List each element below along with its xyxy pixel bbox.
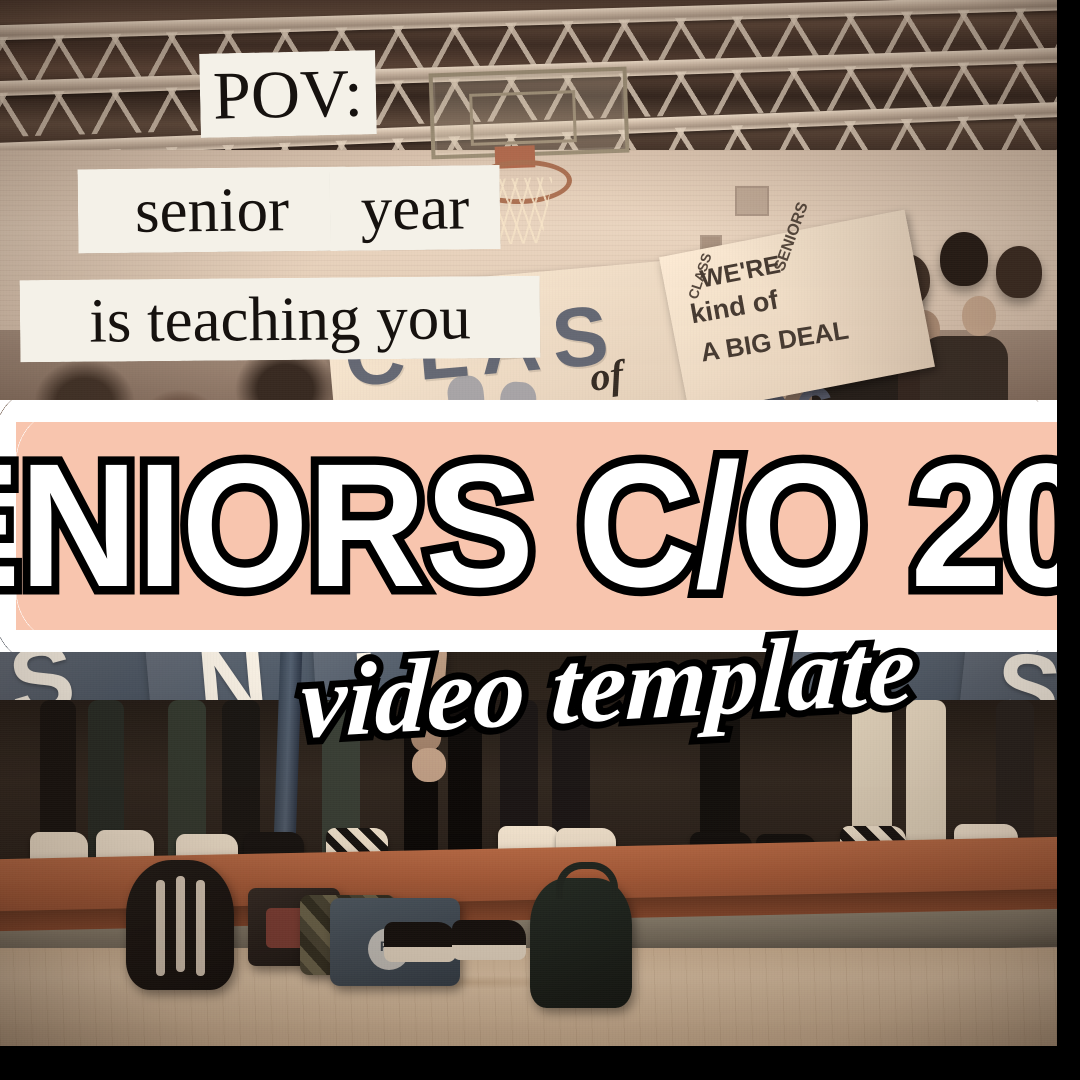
hook-line-year: year — [329, 165, 500, 251]
hook-line-is-teaching-you: is teaching you — [20, 276, 541, 363]
hook-line-year-text: year — [360, 176, 469, 240]
hook-line-is-teaching-you-text: is teaching you — [89, 286, 471, 352]
hook-line-pov-text: POV: — [212, 58, 363, 129]
social-graphic-canvas: CLAS of 2026 SENIORS CLASS WE'RE kind of… — [0, 0, 1080, 1080]
hook-line-senior: senior — [78, 167, 347, 254]
hook-line-pov: POV: — [199, 50, 377, 138]
right-frame-bar — [1057, 0, 1080, 1080]
bottom-frame-bar — [0, 1046, 1080, 1080]
headline-text: SENIORS C/O 2026 — [32, 444, 1042, 608]
hook-line-senior-text: senior — [135, 178, 290, 243]
